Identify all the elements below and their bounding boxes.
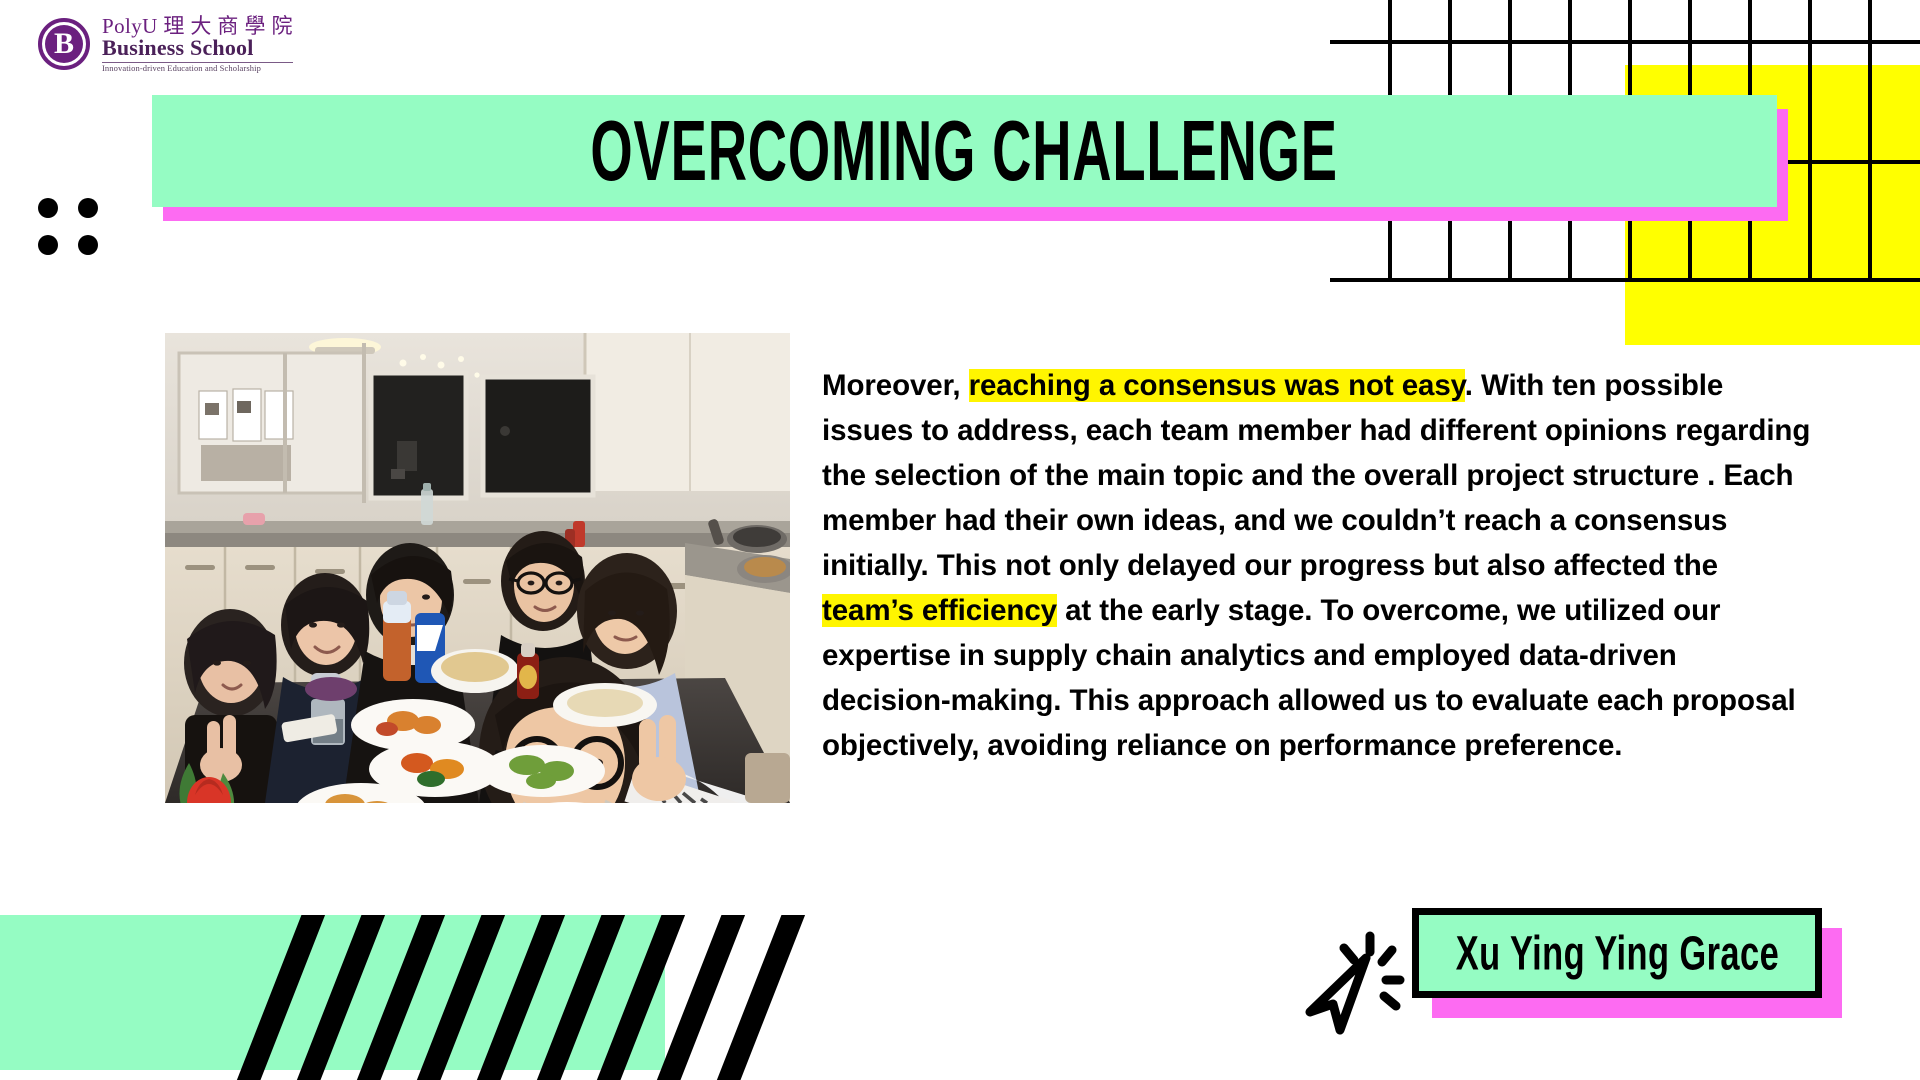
dot [38, 198, 58, 218]
team-dinner-photo [165, 333, 790, 803]
highlighted-phrase: reaching a consensus was not easy [969, 369, 1465, 402]
dot [78, 235, 98, 255]
presenter-name-badge: Xu Ying Ying Grace [1412, 908, 1822, 998]
body-paragraph: Moreover, reaching a consensus was not e… [822, 363, 1812, 768]
dot [38, 235, 58, 255]
polyu-business-school-logo: B PolyU 理 大 商 學 院 Business School Innova… [38, 16, 293, 73]
dots-decoration-icon [38, 198, 104, 258]
logo-mark-icon: B [38, 18, 90, 70]
logo-tagline: Innovation-driven Education and Scholars… [102, 64, 293, 73]
cursor-click-icon [1288, 908, 1428, 1048]
slide-title-banner: OVERCOMING CHALLENGE [152, 95, 1777, 207]
logo-text-block: PolyU 理 大 商 學 院 Business School Innovati… [102, 16, 293, 73]
highlighted-phrase: team’s efficiency [822, 594, 1057, 627]
dot [78, 198, 98, 218]
diagonal-stripes-decoration-icon [0, 915, 855, 1080]
page-title: OVERCOMING CHALLENGE [591, 108, 1338, 194]
logo-letter: B [54, 29, 74, 59]
name-badge-box: Xu Ying Ying Grace [1412, 908, 1822, 998]
slide-canvas: B PolyU 理 大 商 學 院 Business School Innova… [0, 0, 1920, 1080]
body-text-run: Moreover, [822, 369, 969, 402]
presenter-name: Xu Ying Ying Grace [1455, 929, 1778, 977]
logo-line-1: PolyU 理 大 商 學 院 [102, 16, 293, 37]
title-banner-fill: OVERCOMING CHALLENGE [152, 95, 1777, 207]
logo-line-2: Business School [102, 37, 293, 59]
